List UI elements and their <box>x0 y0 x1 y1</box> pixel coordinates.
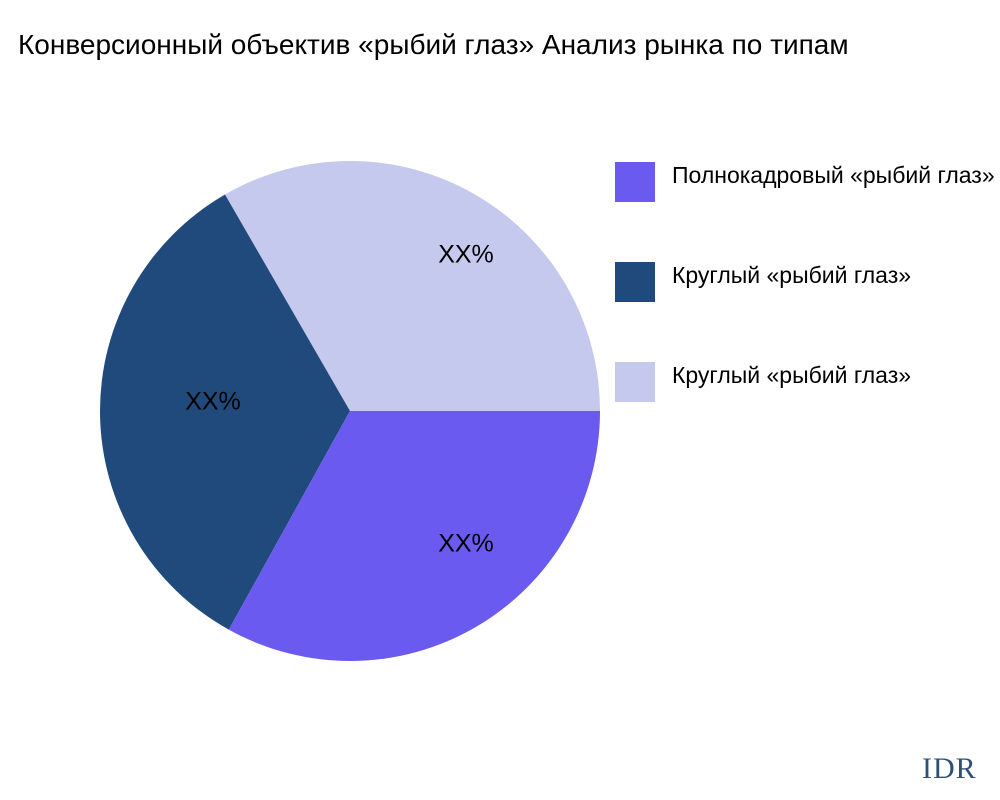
legend: Полнокадровый «рыбий глаз» Круглый «рыби… <box>615 162 1000 462</box>
legend-item-2[interactable]: Круглый «рыбий глаз» <box>615 362 1000 462</box>
pie-chart-svg: XX%XX%XX% <box>100 161 600 661</box>
pie-slice-group <box>100 161 600 661</box>
legend-item-label: Полнокадровый «рыбий глаз» <box>672 160 1000 191</box>
page-title: Конверсионный объектив «рыбий глаз» Анал… <box>18 26 1000 64</box>
legend-item-label: Круглый «рыбий глаз» <box>672 260 1000 291</box>
pie-slice-label: XX% <box>438 530 494 558</box>
legend-item-label: Круглый «рыбий глаз» <box>672 360 1000 391</box>
legend-item-0[interactable]: Полнокадровый «рыбий глаз» <box>615 162 1000 262</box>
pie-slice-label: XX% <box>438 241 494 269</box>
pie-chart: XX%XX%XX% <box>100 161 600 661</box>
legend-swatch-icon <box>615 162 655 202</box>
legend-item-1[interactable]: Круглый «рыбий глаз» <box>615 262 1000 362</box>
legend-swatch-icon <box>615 362 655 402</box>
idr-watermark: IDR <box>922 752 977 786</box>
pie-slice-label: XX% <box>185 388 241 416</box>
legend-swatch-icon <box>615 262 655 302</box>
